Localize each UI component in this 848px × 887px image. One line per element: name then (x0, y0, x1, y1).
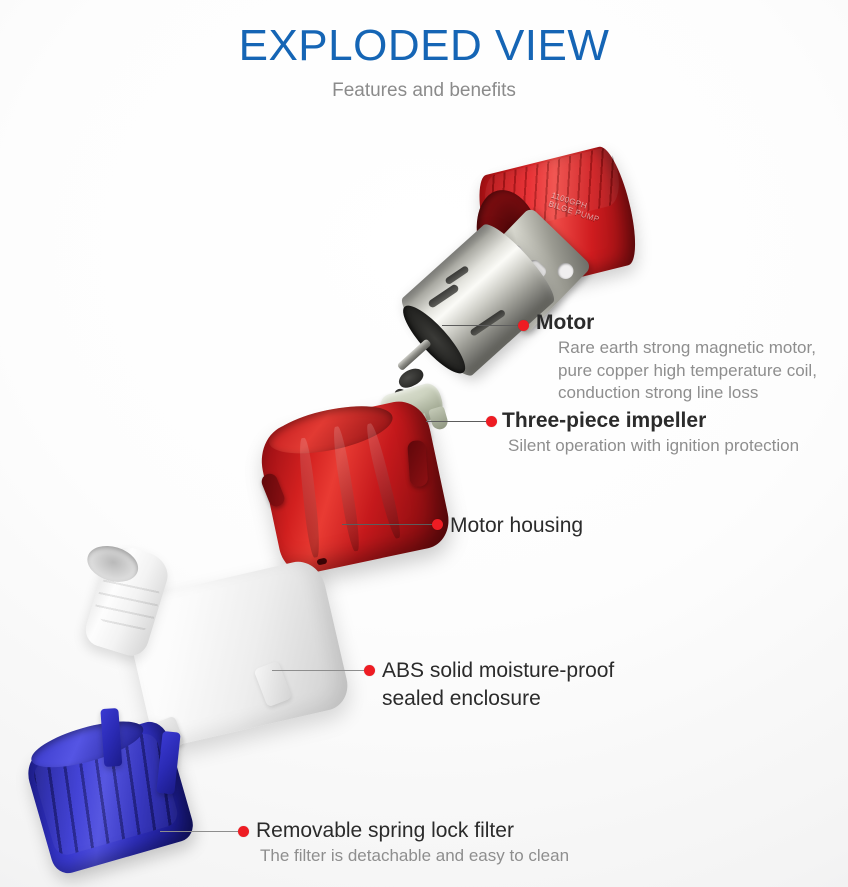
leader-line-filter (160, 831, 238, 832)
leader-line-housing (342, 524, 432, 525)
leader-line-enclosure (272, 670, 364, 671)
filter-spring-lock-tab (100, 708, 122, 767)
page-header: EXPLODED VIEW Features and benefits (0, 0, 848, 102)
leader-line-motor (442, 325, 518, 326)
leader-line-impeller (426, 421, 486, 422)
housing-clip (407, 440, 428, 487)
callout-impeller: Three-piece impeller Silent operation wi… (502, 408, 799, 458)
page-title: EXPLODED VIEW (0, 22, 848, 70)
callout-dot-enclosure (364, 665, 375, 676)
callout-dot-housing (432, 519, 443, 530)
callout-desc-motor: Rare earth strong magnetic motor, pure c… (558, 337, 817, 404)
callout-filter: Removable spring lock filter The filter … (256, 818, 569, 868)
callout-dot-filter (238, 826, 249, 837)
callout-desc-filter: The filter is detachable and easy to cle… (260, 845, 569, 867)
callout-desc-impeller: Silent operation with ignition protectio… (508, 435, 799, 457)
motor-shaft (397, 338, 432, 371)
callout-title-impeller: Three-piece impeller (502, 408, 799, 433)
callout-enclosure: ABS solid moisture-proof sealed enclosur… (382, 657, 614, 714)
callout-title-housing: Motor housing (450, 513, 583, 538)
callout-housing: Motor housing (450, 513, 583, 538)
callout-title-motor: Motor (536, 310, 817, 335)
callout-dot-motor (518, 320, 529, 331)
exploded-view-page: EXPLODED VIEW Features and benefits 1100… (0, 0, 848, 887)
callout-dot-impeller (486, 416, 497, 427)
callout-title-filter: Removable spring lock filter (256, 818, 569, 843)
page-subtitle: Features and benefits (0, 80, 848, 102)
callout-motor: Motor Rare earth strong magnetic motor, … (536, 310, 817, 405)
callout-title-enclosure: ABS solid moisture-proof sealed enclosur… (382, 657, 614, 714)
